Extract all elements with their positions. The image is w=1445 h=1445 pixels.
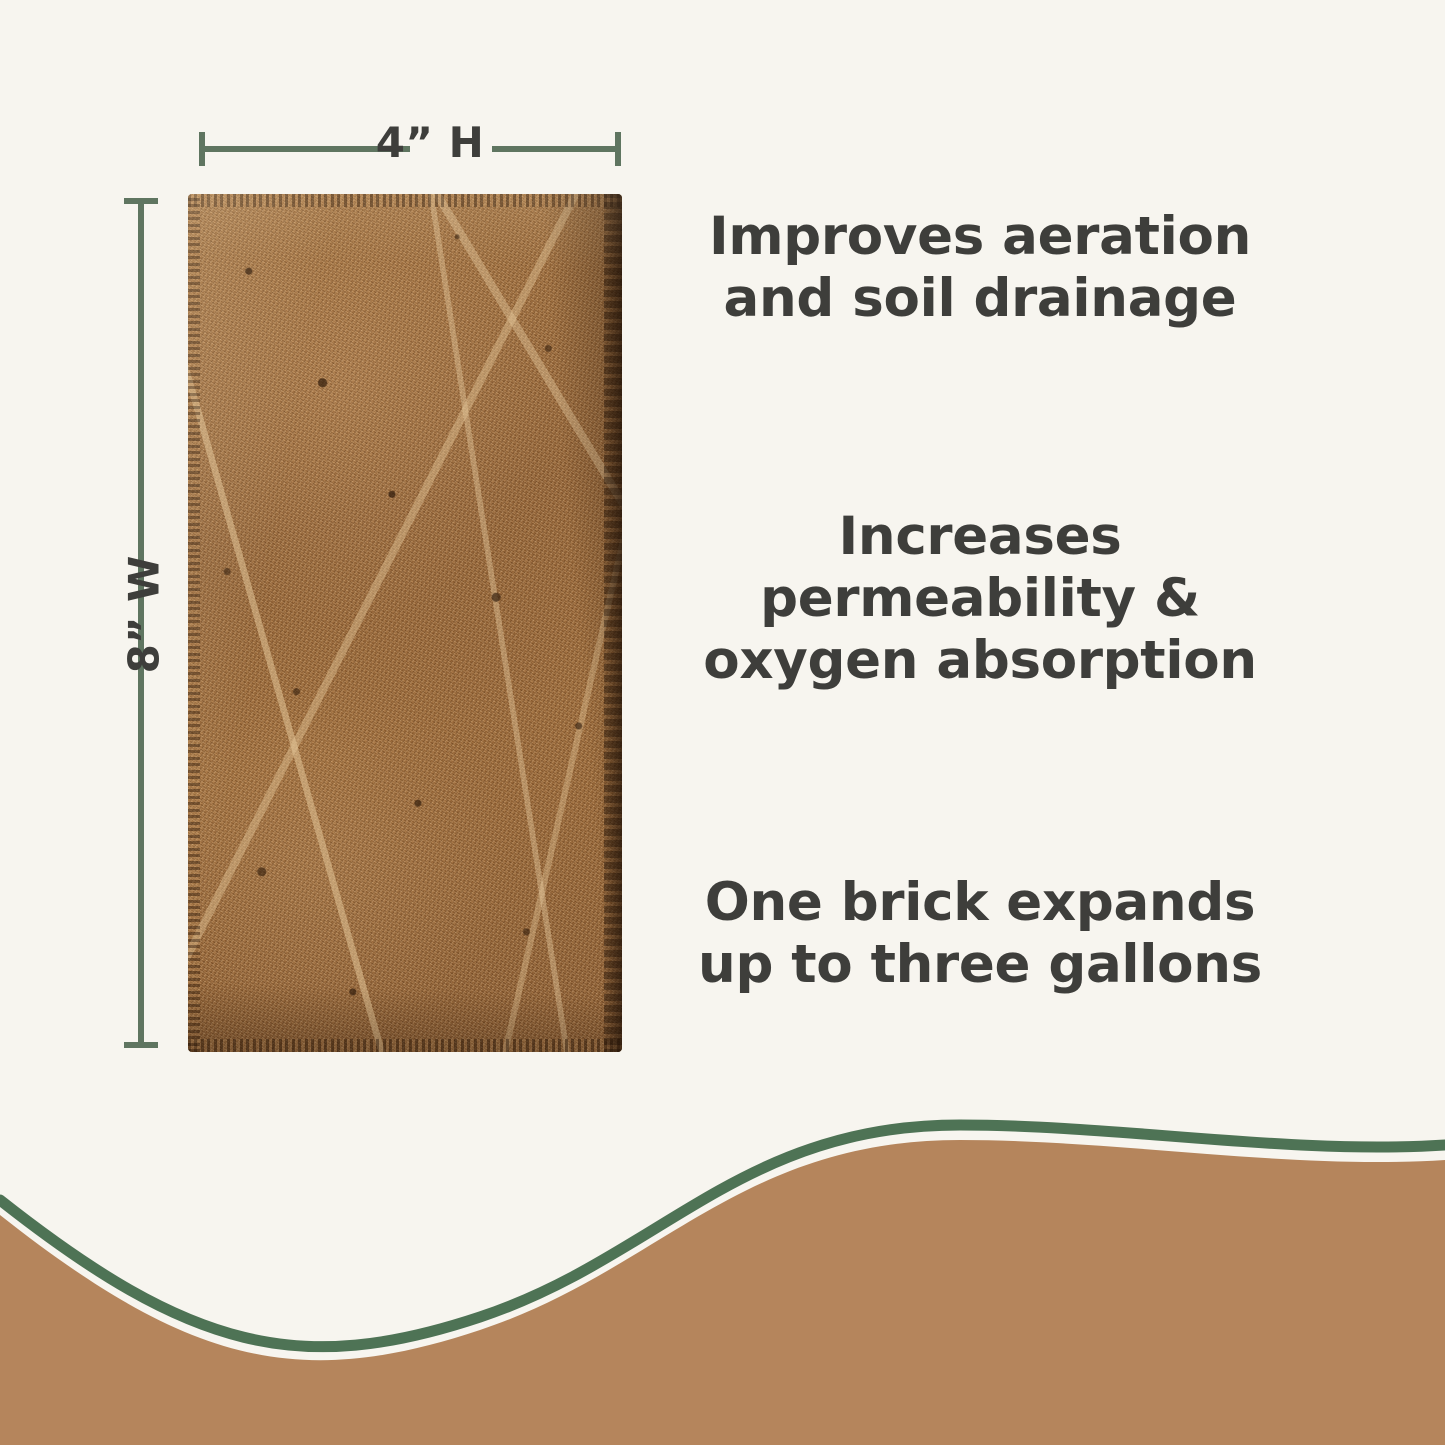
benefit-expansion-volume: One brick expands up to three gallons bbox=[672, 872, 1288, 996]
coco-coir-brick-image bbox=[188, 194, 622, 1052]
width-dimension-cap-right bbox=[615, 132, 621, 166]
width-dimension-label: 4” H bbox=[370, 118, 490, 167]
benefit-line: and soil drainage bbox=[672, 268, 1288, 330]
benefit-line: Improves aeration bbox=[672, 206, 1288, 268]
brick-edge-top bbox=[188, 194, 622, 207]
benefit-line: oxygen absorption bbox=[672, 630, 1288, 692]
benefit-aeration-drainage: Improves aeration and soil drainage bbox=[672, 206, 1288, 330]
benefit-line: up to three gallons bbox=[672, 934, 1288, 996]
benefit-permeability-oxygen: Increases permeability & oxygen absorpti… bbox=[672, 506, 1288, 692]
height-dimension-label: 8” W bbox=[120, 455, 169, 775]
infographic-canvas: 4” H 8” W Improves aeration and soil dra… bbox=[0, 0, 1445, 1445]
brick-edge-right bbox=[604, 194, 622, 1052]
brick-shading-overlay bbox=[188, 194, 622, 1052]
height-dimension-cap-bottom bbox=[124, 1042, 158, 1048]
brick-edge-left bbox=[188, 194, 200, 1052]
bottom-wave-decoration bbox=[0, 1115, 1445, 1445]
benefit-line: permeability & bbox=[672, 568, 1288, 630]
benefit-line: Increases bbox=[672, 506, 1288, 568]
brick-texture bbox=[188, 194, 622, 1052]
width-dimension-line-right bbox=[492, 146, 618, 152]
brick-edge-bottom bbox=[188, 1039, 622, 1052]
benefit-line: One brick expands bbox=[672, 872, 1288, 934]
